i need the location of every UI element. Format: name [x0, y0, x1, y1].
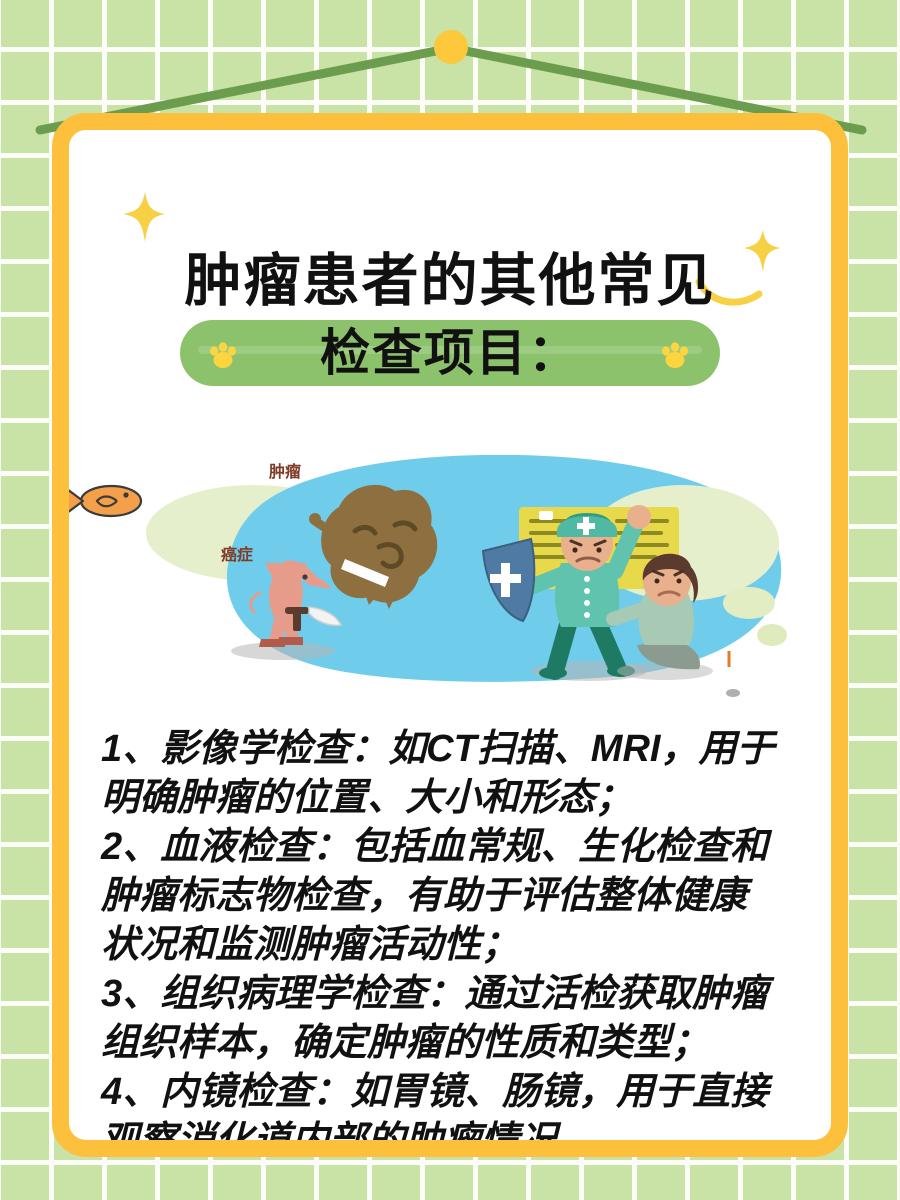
poster-root: 肿瘤患者的其他常见 检查项目： [0, 0, 900, 1200]
body-line: 1、影像学检查：如CT扫描、MRI，用于 [101, 725, 807, 774]
body-line: 观察消化道内部的肿瘤情况。 [101, 1117, 807, 1157]
page-title-line1: 肿瘤患者的其他常见 [69, 250, 831, 314]
body-line: 3、组织病理学检查：通过活检获取肿瘤 [101, 970, 807, 1019]
body-text: 1、影像学检查：如CT扫描、MRI，用于 明确肿瘤的位置、大小和形态； 2、血液… [101, 725, 807, 1157]
hanger-knob-icon [434, 30, 468, 64]
illustration: 肿瘤 癌症 [69, 455, 831, 705]
label-cancer: 癌症 [221, 545, 253, 564]
fish-icon [69, 486, 141, 516]
label-tumor: 肿瘤 [269, 462, 301, 481]
grey-dot [726, 689, 740, 697]
body-line: 组织样本，确定肿瘤的性质和类型； [101, 1019, 807, 1068]
body-line: 明确肿瘤的位置、大小和形态； [101, 774, 807, 823]
poster-card: 肿瘤患者的其他常见 检查项目： [52, 113, 848, 1157]
title-pill: 检查项目： [180, 320, 720, 386]
green-blob-dot1 [723, 587, 775, 619]
body-line: 4、内镜检查：如胃镜、肠镜，用于直接 [101, 1068, 807, 1117]
paw-print-icon-right [659, 337, 693, 371]
body-line: 2、血液检查：包括血常规、生化检查和 [101, 823, 807, 872]
paw-print-icon-left [207, 337, 241, 371]
body-line: 状况和监测肿瘤活动性； [101, 921, 807, 970]
illustration-svg: 肿瘤 癌症 [69, 455, 831, 705]
sparkle-star-icon-left [119, 190, 169, 251]
body-line: 肿瘤标志物检查，有助于评估整体健康 [101, 872, 807, 921]
title-block: 肿瘤患者的其他常见 检查项目： [69, 250, 831, 386]
page-title-pill-text: 检查项目： [320, 328, 580, 378]
green-blob-dot2 [757, 624, 787, 646]
